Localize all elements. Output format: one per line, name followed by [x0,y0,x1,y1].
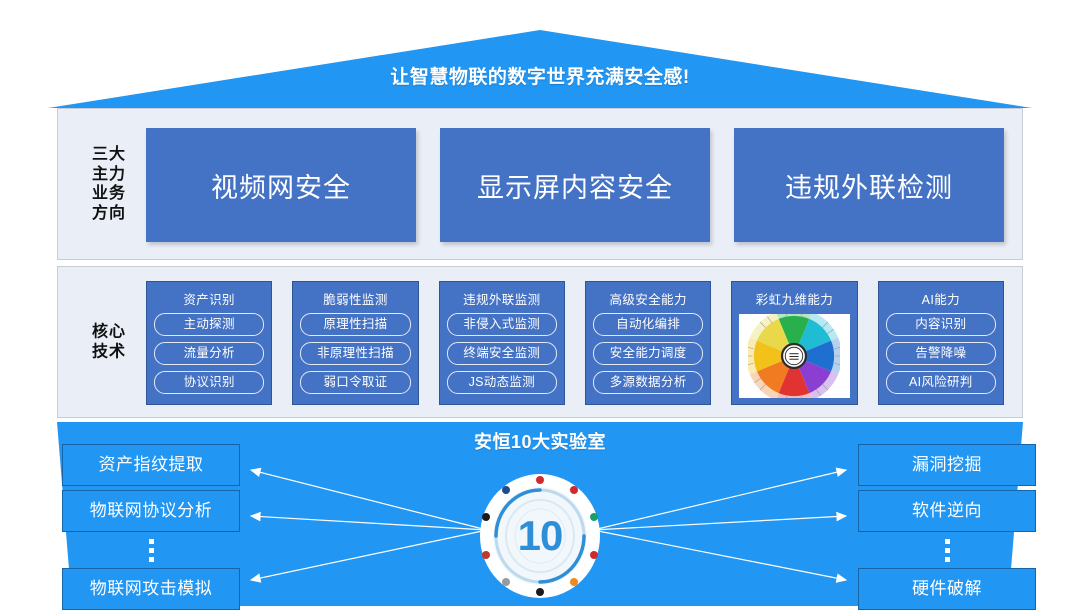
tech-column-title: 高级安全能力 [593,289,703,308]
tech-item[interactable]: 弱口令取证 [300,371,410,394]
labs-badge-number: 10 [468,472,612,600]
core-label-line-2: 技术 [72,342,146,362]
labs-badge: 10 [468,472,612,600]
tech-item[interactable]: 协议识别 [154,371,264,394]
tech-column-ai-capability[interactable]: AI能力 内容识别 告警降噪 AI风险研判 [878,281,1004,405]
business-panel-label: 三大 主力 业务 方向 [72,145,146,223]
lab-box-software-reverse-engineering[interactable]: 软件逆向 [858,490,1036,532]
lab-box-hardware-cracking[interactable]: 硬件破解 [858,568,1036,610]
lab-box-iot-attack-simulation[interactable]: 物联网攻击模拟 [62,568,240,610]
tech-item[interactable]: 安全能力调度 [593,342,703,365]
roof-slogan: 让智慧物联的数字世界充满安全感! [0,62,1080,89]
tech-column-title: 彩虹九维能力 [739,289,849,308]
tech-item[interactable]: 非侵入式监测 [447,313,557,336]
tech-item[interactable]: 多源数据分析 [593,371,703,394]
core-tech-column-row: 资产识别 主动探测 流量分析 协议识别 脆弱性监测 原理性扫描 非原理性扫描 弱… [146,281,1004,405]
lab-ellipsis-right [858,532,1036,568]
lab-box-vulnerability-mining[interactable]: 漏洞挖掘 [858,444,1036,486]
tech-column-title: AI能力 [886,289,996,308]
tech-column-advanced-security-capability[interactable]: 高级安全能力 自动化编排 安全能力调度 多源数据分析 [585,281,711,405]
tech-item[interactable]: 内容识别 [886,313,996,336]
tech-column-rainbow-nine-dimension[interactable]: 彩虹九维能力 [731,281,857,405]
core-label-line-1: 核心 [72,322,146,342]
business-label-line-2: 主力 [72,164,146,184]
business-label-line-4: 方向 [72,204,146,224]
roof-shape [0,0,1080,110]
ellipsis-dot [149,557,154,562]
tech-column-title: 资产识别 [154,289,264,308]
tech-item[interactable]: JS动态监测 [447,371,557,394]
tech-column-vulnerability-monitoring[interactable]: 脆弱性监测 原理性扫描 非原理性扫描 弱口令取证 [292,281,418,405]
tech-item-list: 原理性扫描 非原理性扫描 弱口令取证 [300,313,410,398]
tech-item[interactable]: 终端安全监测 [447,342,557,365]
tech-item[interactable]: 告警降噪 [886,342,996,365]
business-label-line-3: 业务 [72,184,146,204]
rainbow-wheel-icon [748,314,840,398]
rainbow-wheel-image [739,314,849,398]
business-box-video-security[interactable]: 视频网安全 [146,128,416,242]
tech-column-asset-identification[interactable]: 资产识别 主动探测 流量分析 协议识别 [146,281,272,405]
lab-column-left: 资产指纹提取 物联网协议分析 物联网攻击模拟 [62,444,240,610]
ellipsis-dot [149,539,154,544]
lab-column-right: 漏洞挖掘 软件逆向 硬件破解 [858,444,1036,610]
lab-ellipsis-left [62,532,240,568]
labs-section: 安恒10大实验室 资产指纹提取 物联网协议分析 物联网攻击模拟 漏洞挖掘 软件逆… [0,420,1080,608]
lab-box-asset-fingerprint-extraction[interactable]: 资产指纹提取 [62,444,240,486]
ellipsis-dot [945,539,950,544]
ellipsis-dot [945,548,950,553]
tech-item-list: 非侵入式监测 终端安全监测 JS动态监测 [447,313,557,398]
business-label-line-1: 三大 [72,145,146,165]
lab-box-iot-protocol-analysis[interactable]: 物联网协议分析 [62,490,240,532]
ellipsis-dot [945,557,950,562]
tech-item[interactable]: 流量分析 [154,342,264,365]
business-box-row: 视频网安全 显示屏内容安全 违规外联检测 [146,128,1004,242]
tech-column-illegal-outreach-monitoring[interactable]: 违规外联监测 非侵入式监测 终端安全监测 JS动态监测 [439,281,565,405]
business-box-illegal-outreach-detection[interactable]: 违规外联检测 [734,128,1004,242]
tech-item-list: 自动化编排 安全能力调度 多源数据分析 [593,313,703,398]
tech-item[interactable]: 自动化编排 [593,313,703,336]
tech-item-list: 主动探测 流量分析 协议识别 [154,313,264,398]
business-box-display-content-security[interactable]: 显示屏内容安全 [440,128,710,242]
core-tech-panel-label: 核心 技术 [72,322,146,361]
ellipsis-dot [149,548,154,553]
roof-banner: 让智慧物联的数字世界充满安全感! [0,0,1080,110]
tech-item[interactable]: 非原理性扫描 [300,342,410,365]
tech-item[interactable]: 主动探测 [154,313,264,336]
tech-item[interactable]: AI风险研判 [886,371,996,394]
tech-column-title: 违规外联监测 [447,289,557,308]
core-tech-panel: 核心 技术 资产识别 主动探测 流量分析 协议识别 脆弱性监测 原理性扫描 非原… [57,266,1023,418]
tech-item-list: 内容识别 告警降噪 AI风险研判 [886,313,996,398]
tech-item[interactable]: 原理性扫描 [300,313,410,336]
tech-column-title: 脆弱性监测 [300,289,410,308]
business-panel: 三大 主力 业务 方向 视频网安全 显示屏内容安全 违规外联检测 [57,108,1023,260]
